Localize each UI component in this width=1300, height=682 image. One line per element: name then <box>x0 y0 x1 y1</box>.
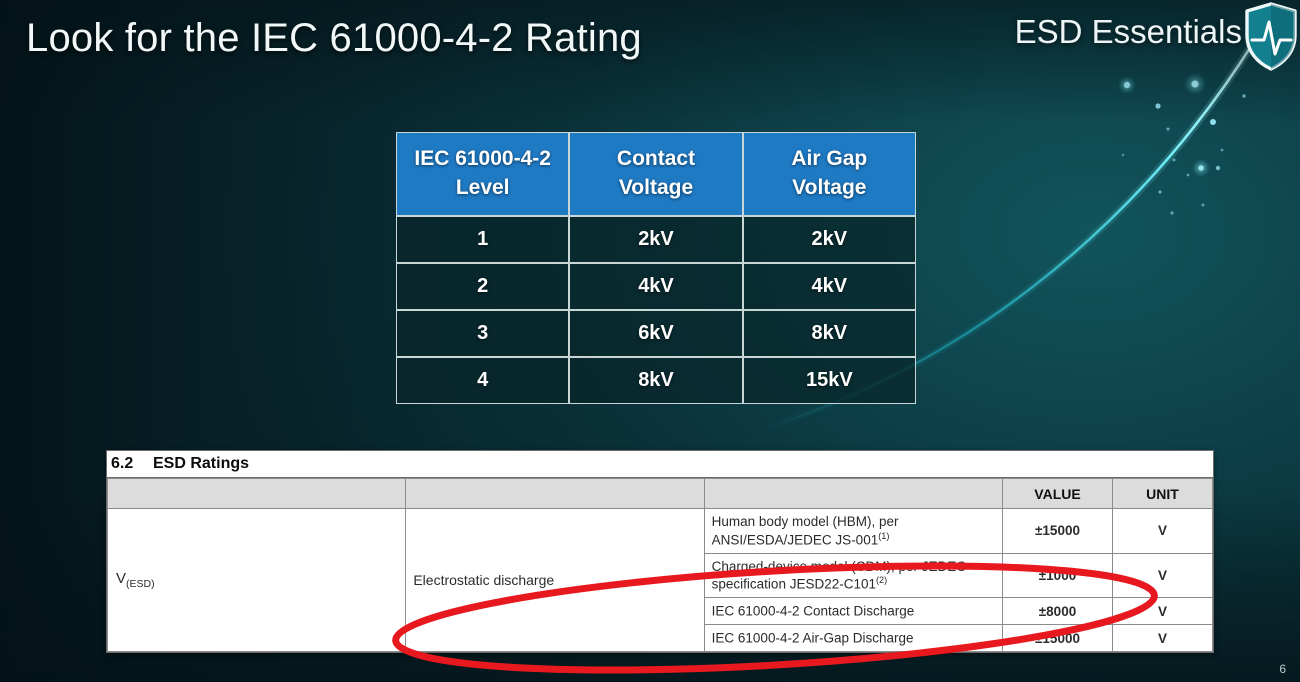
cell-air-gap-voltage: 2kV <box>743 216 916 263</box>
column-header-value: VALUE <box>1003 479 1113 509</box>
cell-contact-voltage: 2kV <box>569 216 742 263</box>
cell-description: IEC 61000-4-2 Contact Discharge <box>704 598 1002 625</box>
page-title: Look for the IEC 61000-4-2 Rating <box>26 16 642 61</box>
cell-description: Charged-device model (CDM), per JEDEC sp… <box>704 553 1002 598</box>
footnote-marker: (2) <box>876 575 887 585</box>
cell-description: Human body model (HBM), per ANSI/ESDA/JE… <box>704 509 1002 554</box>
page-number: 6 <box>1279 662 1286 676</box>
cell-unit: V <box>1113 625 1213 652</box>
cell-value: ±15000 <box>1003 625 1113 652</box>
table-header-row: IEC 61000-4-2 Level Contact Voltage Air … <box>396 132 916 216</box>
section-number: 6.2 <box>111 455 153 473</box>
presentation-slide: Look for the IEC 61000-4-2 Rating ESD Es… <box>0 0 1300 682</box>
symbol-subscript: (ESD) <box>126 578 155 590</box>
cell-level: 4 <box>396 357 569 404</box>
table-row: 2 4kV 4kV <box>396 263 916 310</box>
cell-contact-voltage: 6kV <box>569 310 742 357</box>
column-header-unit: UNIT <box>1113 479 1213 509</box>
table-header-row: VALUE UNIT <box>108 479 1213 509</box>
cell-level: 2 <box>396 263 569 310</box>
cell-value: ±8000 <box>1003 598 1113 625</box>
datasheet-excerpt: 6.2 ESD Ratings VALUE UNIT V(ESD) Elec <box>106 450 1214 653</box>
column-header-level: IEC 61000-4-2 Level <box>396 132 569 216</box>
cell-level: 3 <box>396 310 569 357</box>
cell-level: 1 <box>396 216 569 263</box>
datasheet-section-heading: 6.2 ESD Ratings <box>107 451 1213 478</box>
brand-label: ESD Essentials <box>1015 13 1242 51</box>
shield-pulse-icon <box>1244 2 1298 72</box>
column-header-symbol <box>108 479 406 509</box>
footnote-marker: (1) <box>878 531 889 541</box>
cell-value: ±1000 <box>1003 553 1113 598</box>
cell-symbol: V(ESD) <box>108 509 406 652</box>
iec-level-table: IEC 61000-4-2 Level Contact Voltage Air … <box>396 132 916 404</box>
cell-description: IEC 61000-4-2 Air-Gap Discharge <box>704 625 1002 652</box>
column-header-parameter <box>406 479 704 509</box>
cell-parameter: Electrostatic discharge <box>406 509 704 652</box>
column-header-air-gap-voltage: Air Gap Voltage <box>743 132 916 216</box>
cell-air-gap-voltage: 8kV <box>743 310 916 357</box>
table-row: V(ESD) Electrostatic discharge Human bod… <box>108 509 1213 554</box>
column-header-contact-voltage: Contact Voltage <box>569 132 742 216</box>
table-row: 1 2kV 2kV <box>396 216 916 263</box>
table-row: 3 6kV 8kV <box>396 310 916 357</box>
table-row: 4 8kV 15kV <box>396 357 916 404</box>
cell-air-gap-voltage: 4kV <box>743 263 916 310</box>
esd-ratings-table: VALUE UNIT V(ESD) Electrostatic discharg… <box>107 478 1213 652</box>
cell-unit: V <box>1113 553 1213 598</box>
section-title: ESD Ratings <box>153 455 249 473</box>
cell-contact-voltage: 8kV <box>569 357 742 404</box>
cell-contact-voltage: 4kV <box>569 263 742 310</box>
cell-unit: V <box>1113 509 1213 554</box>
cell-unit: V <box>1113 598 1213 625</box>
cell-air-gap-voltage: 15kV <box>743 357 916 404</box>
cell-value: ±15000 <box>1003 509 1113 554</box>
column-header-description <box>704 479 1002 509</box>
